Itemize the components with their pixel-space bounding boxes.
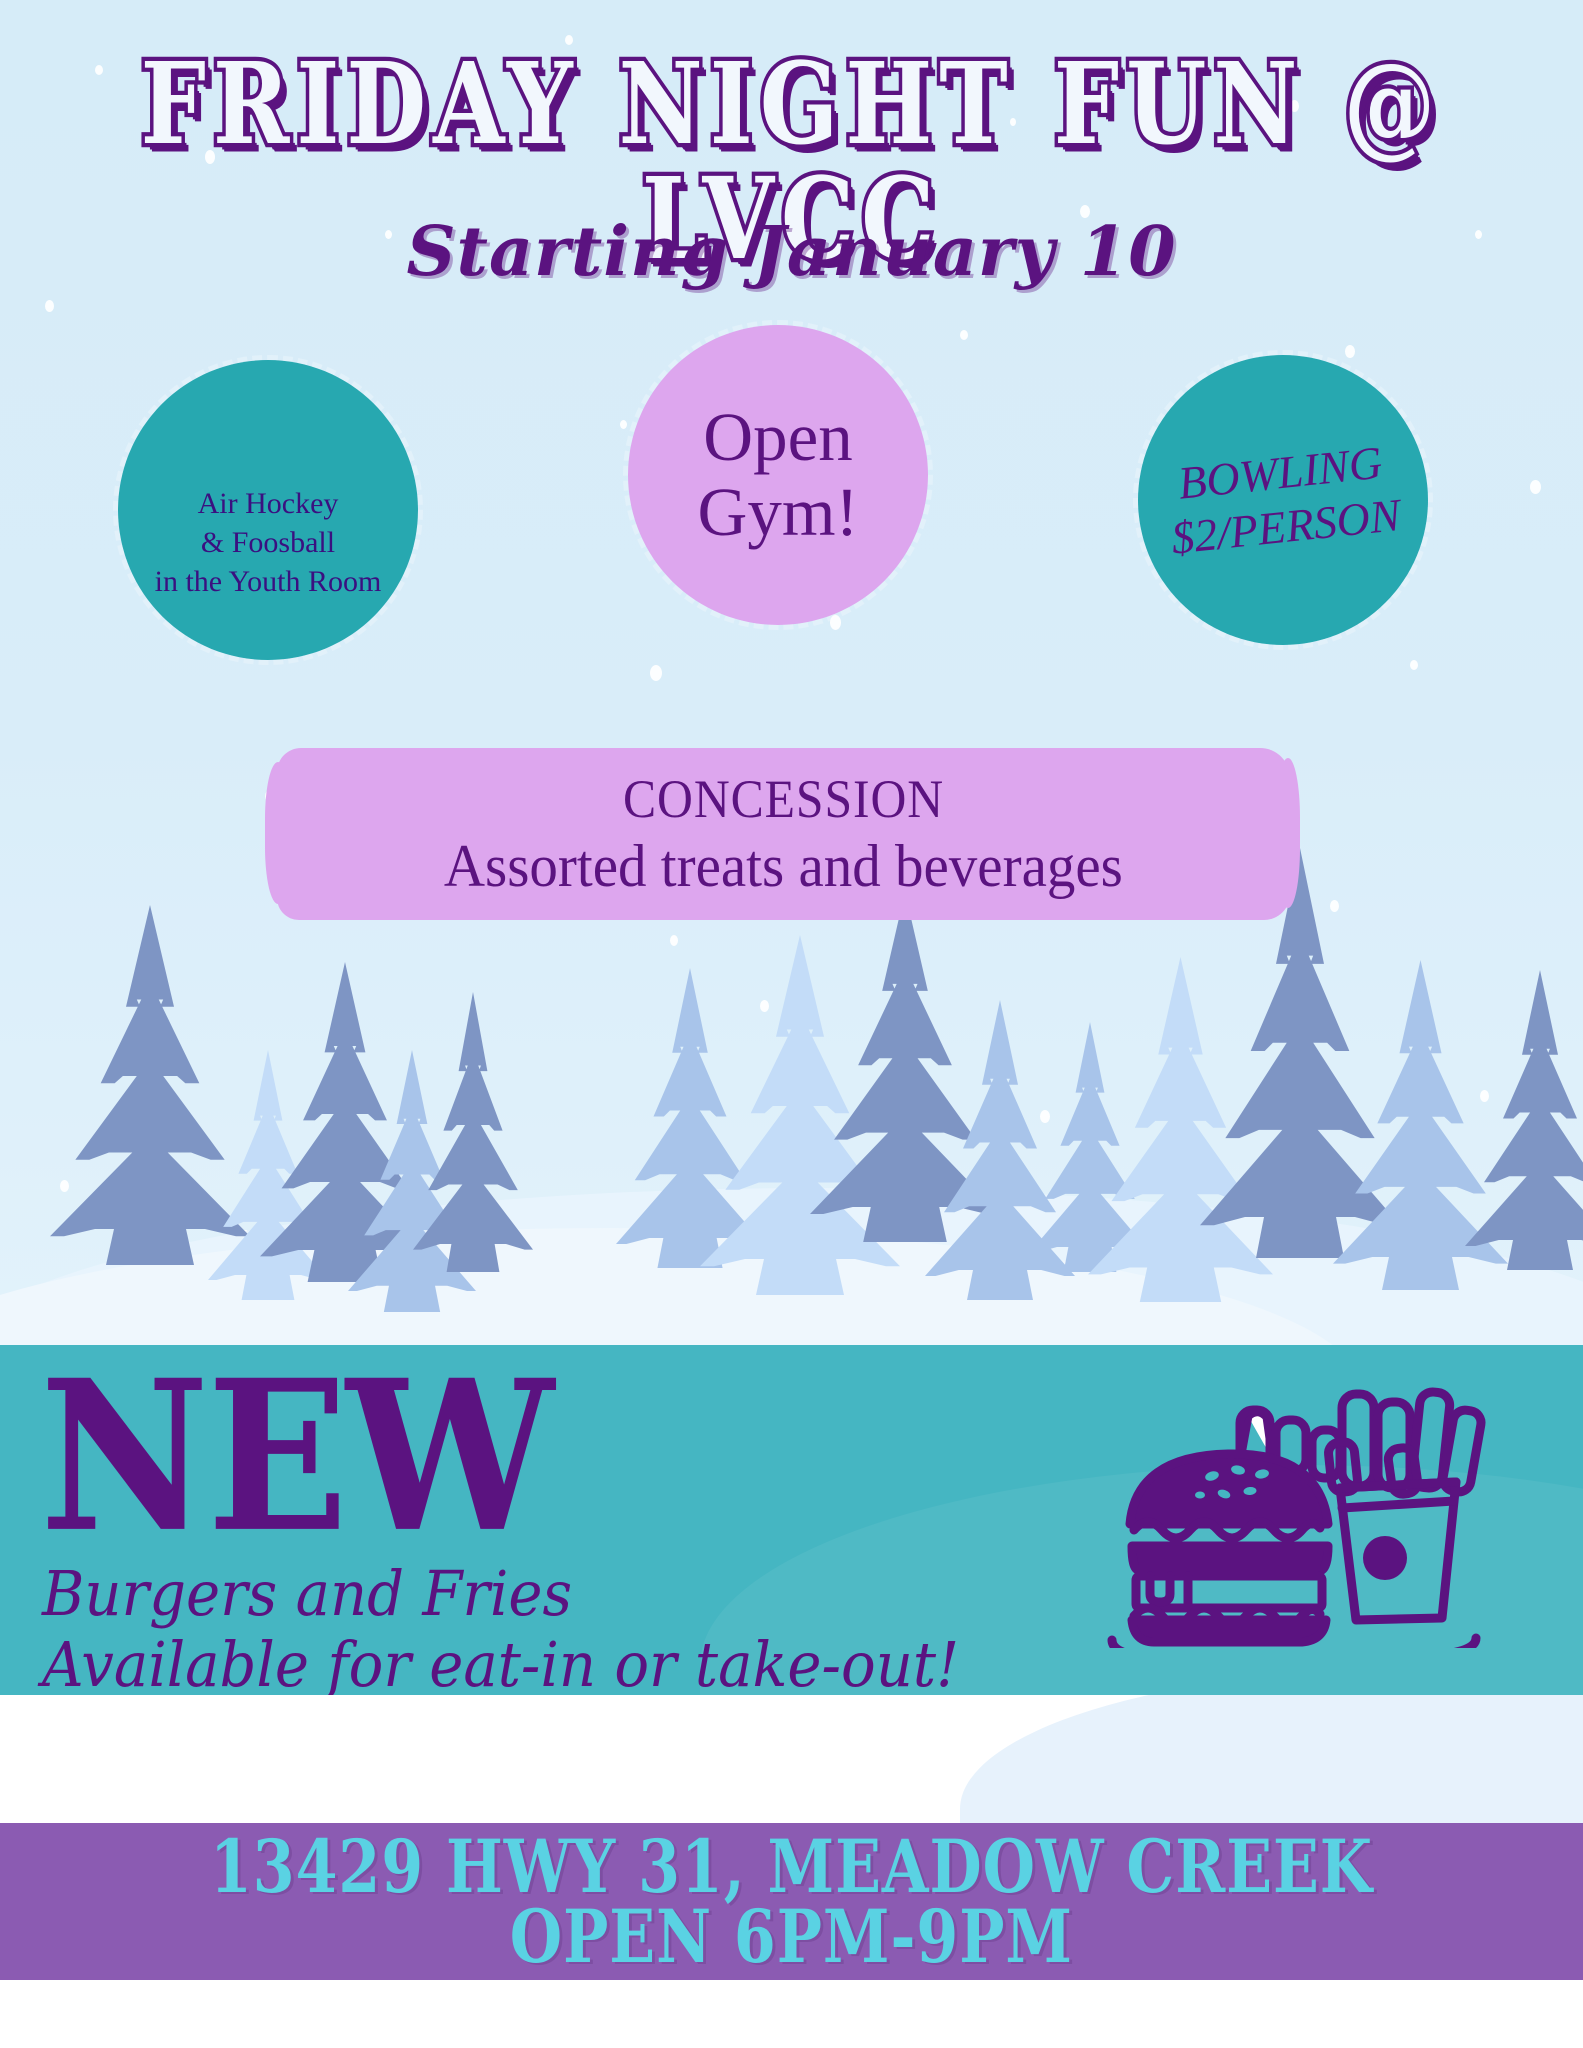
snowflake-dot (1345, 345, 1355, 358)
concession-description: Assorted treats and beverages (444, 832, 1123, 901)
new-line-2: Available for eat-in or take-out! (42, 1628, 959, 1695)
badge-open-gym-text: Open Gym! (698, 400, 859, 549)
snowflake-dot (620, 420, 627, 429)
page-bottom-margin (0, 1980, 1583, 2048)
title-container: FRIDAY NIGHT FUN @ LVCC (0, 48, 1583, 236)
new-line-1: Burgers and Fries (42, 1557, 572, 1630)
badge-air-hockey-line3: in the Youth Room (155, 562, 382, 601)
white-strip-curve (960, 1695, 1583, 1823)
burger-and-fries-icon (1090, 1348, 1510, 1648)
concession-banner: CONCESSION Assorted treats and beverages (277, 748, 1290, 920)
snowflake-dot (670, 935, 678, 946)
pine-tree-icon (1465, 970, 1583, 1270)
pine-tree-shape (1465, 970, 1583, 1270)
badge-open-gym-line2: Gym! (698, 475, 859, 550)
badge-open-gym-line1: Open (698, 400, 859, 475)
footer-band: 13429 HWY 31, MEADOW CREEK OPEN 6PM-9PM (0, 1823, 1583, 1980)
snowflake-dot (1410, 660, 1418, 670)
snowflake-dot (1530, 480, 1541, 494)
flyer-subtitle: Starting January 10 (0, 212, 1583, 292)
footer-hours: OPEN 6PM-9PM (510, 1895, 1073, 1977)
badge-open-gym: Open Gym! (628, 325, 928, 625)
flyer-page: FRIDAY NIGHT FUN @ LVCC Starting January… (0, 0, 1583, 2048)
pine-tree-icon (413, 992, 533, 1272)
badge-bowling: BOWLING $2/PERSON (1138, 355, 1428, 645)
badge-air-hockey-line1: Air Hockey (155, 484, 382, 523)
new-headline: NEW (40, 1353, 552, 1560)
badge-air-hockey-line2: & Foosball (155, 523, 382, 562)
badge-air-hockey-text: Air Hockey & Foosball in the Youth Room (155, 420, 382, 601)
snowflake-dot (830, 615, 841, 630)
snowflake-dot (45, 300, 54, 312)
badge-bowling-text: BOWLING $2/PERSON (1163, 434, 1403, 566)
snowflake-dot (960, 330, 968, 340)
badge-air-hockey: Air Hockey & Foosball in the Youth Room (118, 360, 418, 660)
subtitle-container: Starting January 10 (0, 212, 1583, 292)
concession-heading: CONCESSION (623, 768, 944, 830)
white-divider-strip (0, 1695, 1583, 1823)
snowflake-dot (650, 665, 662, 681)
pine-tree-shape (413, 992, 533, 1272)
